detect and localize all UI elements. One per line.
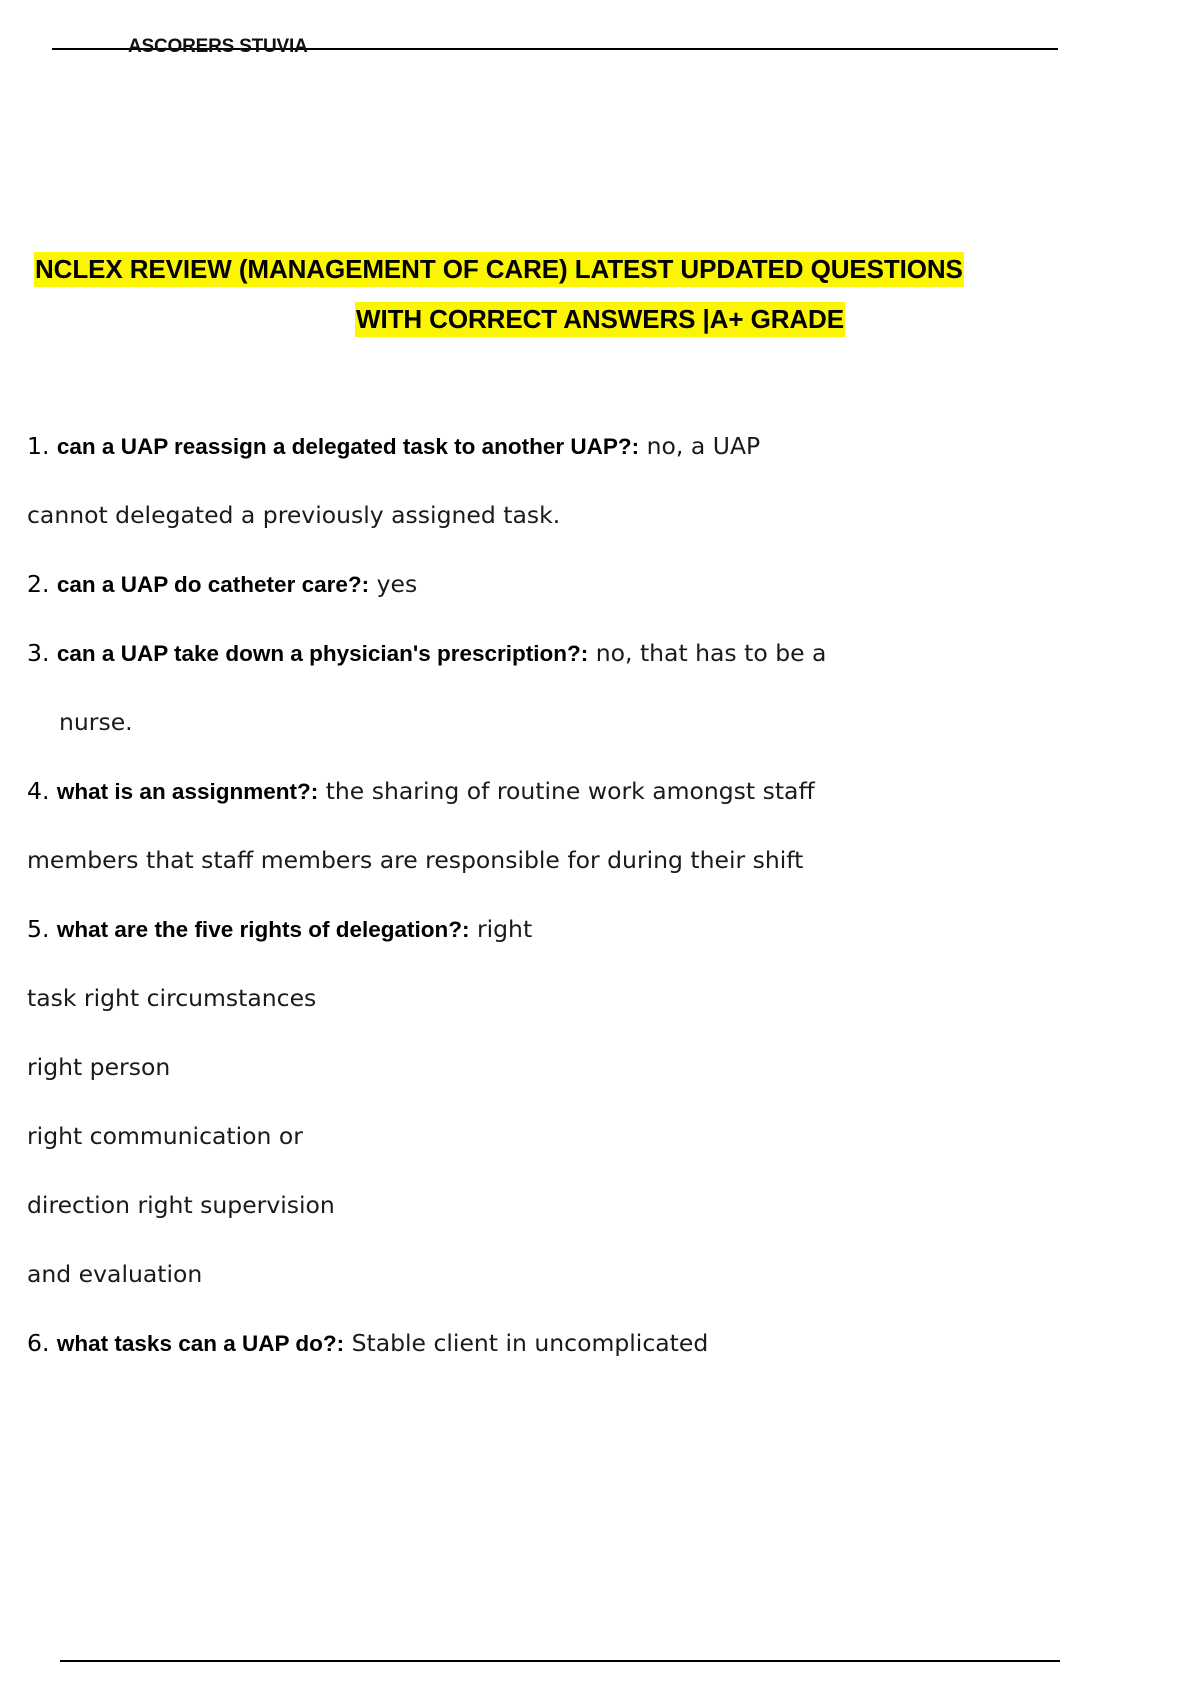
answer-continuation: right communication or (27, 1102, 1200, 1171)
item-question: what are the five rights of delegation?: (57, 917, 470, 942)
footer-divider (60, 1660, 1060, 1662)
list-item: 2. can a UAP do catheter care?: yes (0, 550, 1200, 619)
list-item: 3. can a UAP take down a physician's pre… (0, 619, 1200, 757)
watermark-label: ASCORERS STUVIA (128, 36, 308, 58)
item-answer: no, a UAP (647, 432, 761, 460)
qa-first-line: 6. what tasks can a UAP do?: Stable clie… (27, 1309, 1200, 1378)
item-number: 1. (27, 432, 49, 460)
item-answer: no, that has to be a (596, 639, 827, 667)
title-line-1-text: NCLEX REVIEW (MANAGEMENT OF CARE) LATEST… (34, 252, 964, 287)
qa-first-line: 4. what is an assignment?: the sharing o… (27, 757, 1200, 826)
item-question: can a UAP reassign a delegated task to a… (57, 434, 639, 459)
item-question: can a UAP do catheter care?: (57, 572, 369, 597)
qa-first-line: 2. can a UAP do catheter care?: yes (27, 550, 1200, 619)
item-number: 5. (27, 915, 49, 943)
answer-continuation: nurse. (27, 688, 1200, 757)
item-question: what tasks can a UAP do?: (57, 1331, 344, 1356)
item-answer: yes (377, 570, 418, 598)
answer-continuation: cannot delegated a previously assigned t… (27, 481, 1200, 550)
item-answer: Stable client in uncomplicated (352, 1329, 709, 1357)
item-answer: the sharing of routine work amongst staf… (326, 777, 815, 805)
answer-continuation: task right circumstances (27, 964, 1200, 1033)
qa-first-line: 1. can a UAP reassign a delegated task t… (27, 412, 1200, 481)
item-question: what is an assignment?: (57, 779, 318, 804)
list-item: 5. what are the five rights of delegatio… (0, 895, 1200, 1309)
title-line-2: WITH CORRECT ANSWERS |A+ GRADE (0, 294, 1200, 344)
answer-continuation: and evaluation (27, 1240, 1200, 1309)
list-item: 4. what is an assignment?: the sharing o… (0, 757, 1200, 895)
answer-continuation: right person (27, 1033, 1200, 1102)
document-title: NCLEX REVIEW (MANAGEMENT OF CARE) LATEST… (0, 244, 1200, 344)
qa-first-line: 5. what are the five rights of delegatio… (27, 895, 1200, 964)
title-line-2-text: WITH CORRECT ANSWERS |A+ GRADE (355, 302, 845, 337)
item-number: 2. (27, 570, 49, 598)
page-header: ASCORERS STUVIA (52, 28, 1058, 72)
qa-first-line: 3. can a UAP take down a physician's pre… (27, 619, 1200, 688)
item-number: 6. (27, 1329, 49, 1357)
list-item: 6. what tasks can a UAP do?: Stable clie… (0, 1309, 1200, 1378)
item-answer: right (477, 915, 532, 943)
item-number: 4. (27, 777, 49, 805)
qa-list: 1. can a UAP reassign a delegated task t… (0, 412, 1200, 1378)
list-item: 1. can a UAP reassign a delegated task t… (0, 412, 1200, 550)
document-page: ASCORERS STUVIA NCLEX REVIEW (MANAGEMENT… (0, 0, 1200, 1700)
answer-continuation: members that staff members are responsib… (27, 826, 1200, 895)
answer-continuation: direction right supervision (27, 1171, 1200, 1240)
title-line-1: NCLEX REVIEW (MANAGEMENT OF CARE) LATEST… (0, 244, 1200, 294)
item-number: 3. (27, 639, 49, 667)
item-question: can a UAP take down a physician's prescr… (57, 641, 588, 666)
